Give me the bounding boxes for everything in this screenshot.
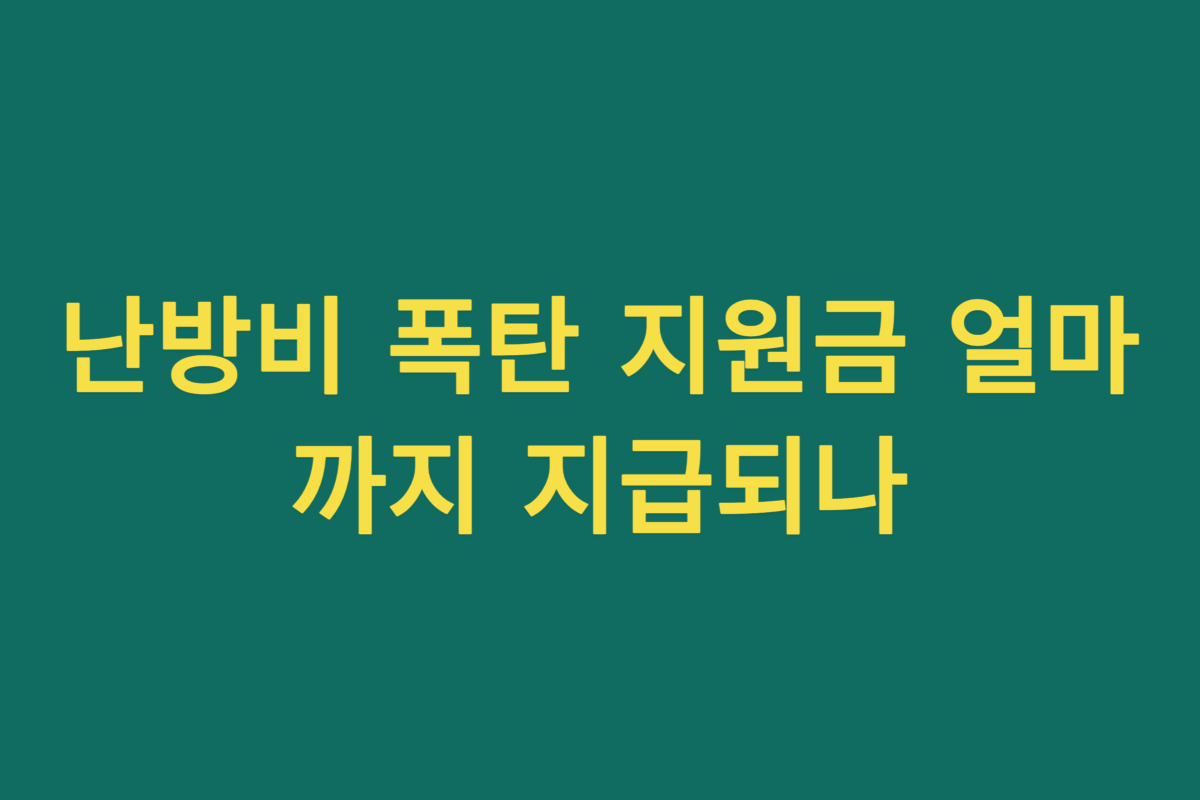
- headline-line-2: 까지 지급되나: [24, 418, 1176, 558]
- poster-canvas: 난방비 폭탄 지원금 얼마 까지 지급되나: [0, 0, 1200, 800]
- headline-block: 난방비 폭탄 지원금 얼마 까지 지급되나: [0, 278, 1200, 559]
- headline-line-1: 난방비 폭탄 지원금 얼마: [24, 278, 1176, 418]
